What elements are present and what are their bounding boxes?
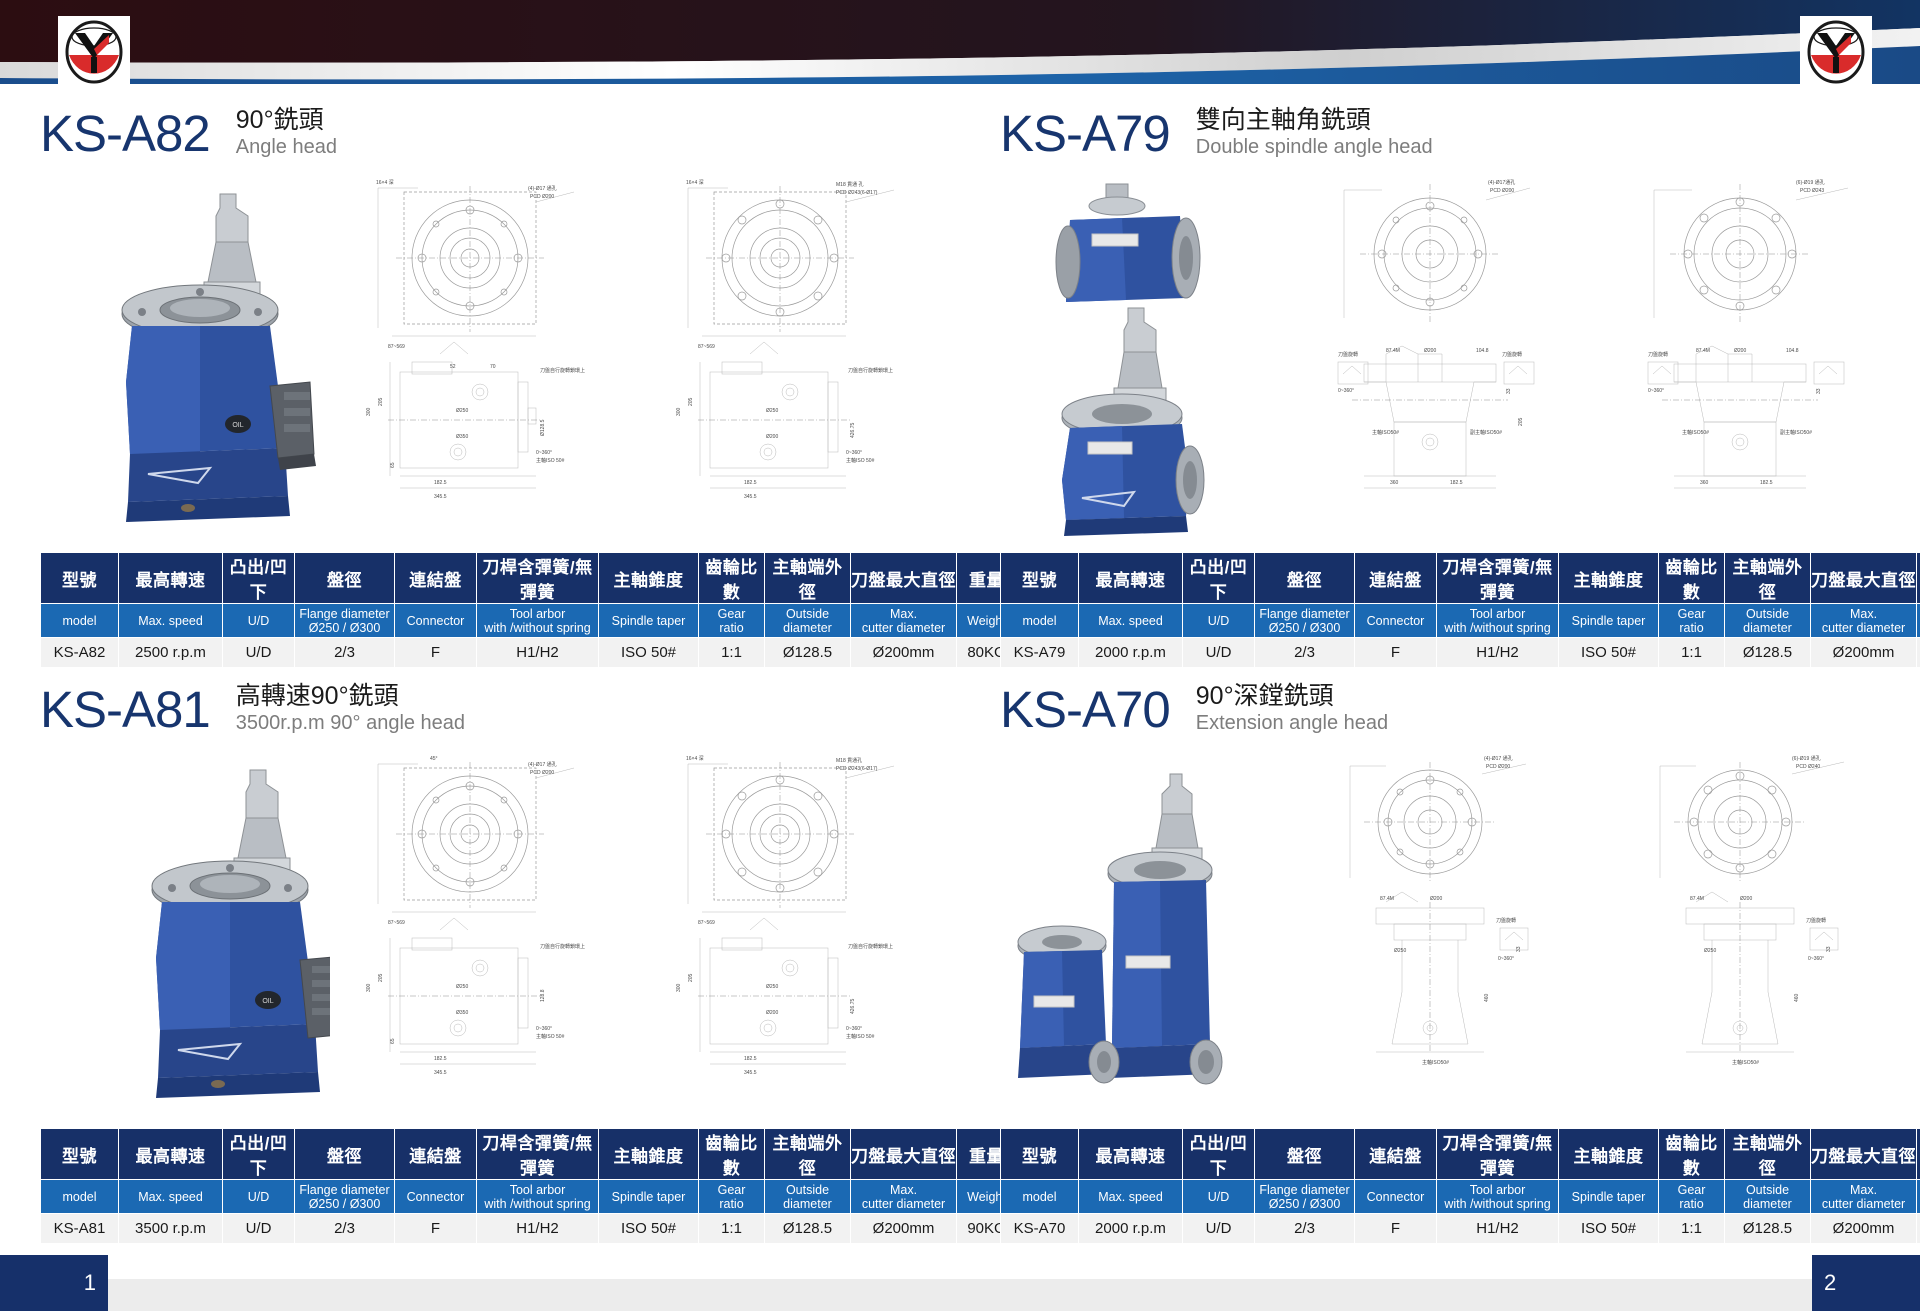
svg-text:87~569: 87~569 <box>388 920 405 926</box>
svg-text:Ø128.5: Ø128.5 <box>540 419 546 436</box>
svg-text:0~360°: 0~360° <box>1648 388 1664 394</box>
svg-text:刀盤旋轉: 刀盤旋轉 <box>1496 917 1516 924</box>
svg-text:205: 205 <box>688 973 694 982</box>
cell-outside-diameter: Ø128.5 <box>765 1214 851 1244</box>
svg-text:(6)-Ø19 通孔: (6)-Ø19 通孔 <box>1792 755 1821 762</box>
svg-text:87.4M: 87.4M <box>1380 896 1394 902</box>
product-title-row: KS-A81 高轉速90°銑頭 3500r.p.m 90° angle head <box>40 672 940 738</box>
th-cn-0: 型號 <box>1001 1129 1079 1180</box>
cell-max-speed: 2000 r.p.m <box>1079 1214 1183 1244</box>
svg-text:刀盤旋轉: 刀盤旋轉 <box>1502 351 1522 358</box>
svg-text:主軸ISO 50#: 主軸ISO 50# <box>846 457 875 464</box>
product-subtitle-cn: 雙向主軸角銑頭 <box>1196 105 1433 135</box>
th-en-7: Gearratio <box>699 604 765 638</box>
product-block-ks-a79: KS-A79 雙向主軸角銑頭 Double spindle angle head <box>1000 96 1900 668</box>
svg-text:PCD Ø243: PCD Ø243 <box>1800 188 1824 194</box>
svg-text:205: 205 <box>1518 417 1524 426</box>
th-en-3: Flange diameterØ250 / Ø300 <box>295 1180 395 1214</box>
svg-text:PCD Ø200: PCD Ø200 <box>1486 764 1510 770</box>
svg-text:0~360°: 0~360° <box>846 450 862 456</box>
svg-text:87.4M: 87.4M <box>1386 348 1400 354</box>
svg-text:Ø250: Ø250 <box>456 984 468 990</box>
cell-connector: F <box>395 638 477 668</box>
cell-outside-diameter: Ø128.5 <box>765 638 851 668</box>
th-cn-6: 主軸錐度 <box>1559 553 1659 604</box>
th-en-10: Weight <box>1917 1180 1920 1214</box>
svg-text:205: 205 <box>378 973 384 982</box>
svg-text:182.5: 182.5 <box>1450 480 1463 486</box>
th-cn-6: 主軸錐度 <box>599 1129 699 1180</box>
svg-text:426.75: 426.75 <box>850 422 856 438</box>
svg-text:87~569: 87~569 <box>698 344 715 350</box>
svg-text:PCD Ø200: PCD Ø200 <box>530 194 554 200</box>
svg-text:104.8: 104.8 <box>1476 348 1489 354</box>
svg-text:0~360°: 0~360° <box>1808 956 1824 962</box>
th-en-5: Tool arborwith /without spring <box>477 604 599 638</box>
th-en-10: Weight <box>1917 604 1920 638</box>
product-block-ks-a82: KS-A82 90°銑頭 Angle head <box>40 96 940 668</box>
th-en-3: Flange diameterØ250 / Ø300 <box>295 604 395 638</box>
spec-table-ks-a82: 型號 最高轉速 凸出/凹下 盤徑 連結盤 刀桿含彈簧/無彈簧 主軸錐度 齒輪比數… <box>40 552 1017 668</box>
spec-table-ks-a70: 型號 最高轉速 凸出/凹下 盤徑 連結盤 刀桿含彈簧/無彈簧 主軸錐度 齒輪比數… <box>1000 1128 1920 1244</box>
th-en-9: Max.cutter diameter <box>851 1180 957 1214</box>
svg-text:Ø250: Ø250 <box>456 408 468 414</box>
th-en-2: U/D <box>223 604 295 638</box>
th-cn-3: 盤徑 <box>1255 553 1355 604</box>
cell-max-cutter: Ø200mm <box>1811 1214 1917 1244</box>
cell-gear-ratio: 1:1 <box>699 638 765 668</box>
catalog-page: KS-A82 90°銑頭 Angle head <box>0 0 1920 1311</box>
th-cn-9: 刀盤最大直徑 <box>851 1129 957 1180</box>
th-en-9: Max.cutter diameter <box>1811 1180 1917 1214</box>
svg-text:M18 貫通孔: M18 貫通孔 <box>836 757 862 764</box>
cell-ud: U/D <box>223 1214 295 1244</box>
product-subtitle-en: Angle head <box>236 135 337 160</box>
svg-text:87~569: 87~569 <box>388 344 405 350</box>
svg-text:426.75: 426.75 <box>850 998 856 1014</box>
svg-text:Ø200: Ø200 <box>1740 896 1752 902</box>
th-cn-2: 凸出/凹下 <box>223 1129 295 1180</box>
svg-text:Ø200: Ø200 <box>1734 348 1746 354</box>
cell-flange: 2/3 <box>295 638 395 668</box>
th-cn-1: 最高轉速 <box>1079 553 1183 604</box>
th-cn-7: 齒輪比數 <box>699 553 765 604</box>
table-header-en-row: model Max. speed U/D Flange diameterØ250… <box>41 604 1017 638</box>
svg-text:PCD Ø243(6-Ø17): PCD Ø243(6-Ø17) <box>836 190 878 196</box>
svg-text:PCD Ø200: PCD Ø200 <box>1490 188 1514 194</box>
product-block-ks-a81: KS-A81 高轉速90°銑頭 3500r.p.m 90° angle head <box>40 672 940 1244</box>
svg-text:Ø200: Ø200 <box>1424 348 1436 354</box>
th-en-6: Spindle taper <box>599 1180 699 1214</box>
th-cn-3: 盤徑 <box>295 1129 395 1180</box>
svg-text:刀盤自行旋轉鎖環上: 刀盤自行旋轉鎖環上 <box>540 943 585 950</box>
ks-bowl-logo-icon <box>1805 19 1867 85</box>
cell-ud: U/D <box>223 638 295 668</box>
svg-text:Ø350: Ø350 <box>456 434 468 440</box>
th-en-4: Connector <box>1355 604 1437 638</box>
svg-text:刀盤自行旋轉鎖環上: 刀盤自行旋轉鎖環上 <box>540 367 585 374</box>
page-title: KS-A81 <box>40 682 210 738</box>
th-cn-9: 刀盤最大直徑 <box>1811 553 1917 604</box>
cell-flange: 2/3 <box>295 1214 395 1244</box>
th-en-5: Tool arborwith /without spring <box>1437 604 1559 638</box>
svg-text:345.5: 345.5 <box>744 494 757 500</box>
svg-text:300: 300 <box>676 407 682 416</box>
svg-text:(4)-Ø17 通孔: (4)-Ø17 通孔 <box>528 761 557 768</box>
th-en-3: Flange diameterØ250 / Ø300 <box>1255 1180 1355 1214</box>
cell-ud: U/D <box>1183 638 1255 668</box>
svg-text:(4)-Ø17 通孔: (4)-Ø17 通孔 <box>1484 755 1513 762</box>
th-en-0: model <box>41 1180 119 1214</box>
th-cn-1: 最高轉速 <box>1079 1129 1183 1180</box>
th-cn-3: 盤徑 <box>1255 1129 1355 1180</box>
th-en-2: U/D <box>1183 1180 1255 1214</box>
th-en-4: Connector <box>1355 1180 1437 1214</box>
drawing-top-view-left: 16×4 深 (4)-Ø17 通孔 PCD Ø200 87~569 52 70 … <box>330 176 630 526</box>
svg-text:360: 360 <box>1700 480 1709 486</box>
drawing-top-view-left: (4)-Ø17 通孔 PCD Ø200 87.4M Ø200 刀盤旋轉 0~36… <box>1290 752 1590 1102</box>
engineering-drawings: 45° (4)-Ø17 通孔 PCD Ø200 87~569 Ø250 Ø350… <box>330 752 940 1102</box>
th-en-4: Connector <box>395 604 477 638</box>
svg-text:M18 貫通 孔: M18 貫通 孔 <box>836 181 864 188</box>
svg-text:65: 65 <box>390 462 396 468</box>
th-cn-9: 刀盤最大直徑 <box>851 553 957 604</box>
svg-text:刀盤旋轉: 刀盤旋轉 <box>1806 917 1826 924</box>
svg-text:16×4 深: 16×4 深 <box>686 179 704 186</box>
cell-outside-diameter: Ø128.5 <box>1725 638 1811 668</box>
drawing-top-view-right: 16×4 深 M18 貫通孔 PCD Ø243(6-Ø17) 87~569 Ø2… <box>640 752 940 1102</box>
product-subtitle-en: Extension angle head <box>1196 711 1388 736</box>
svg-text:33: 33 <box>1516 946 1522 952</box>
cell-model: KS-A79 <box>1001 638 1079 668</box>
svg-text:33: 33 <box>1816 388 1822 394</box>
svg-text:OIL: OIL <box>232 422 243 429</box>
svg-text:PCD Ø243(6-Ø17): PCD Ø243(6-Ø17) <box>836 766 878 772</box>
page-number-left: 1 <box>0 1255 108 1311</box>
th-cn-10: 重量 <box>1917 553 1920 604</box>
th-cn-6: 主軸錐度 <box>599 553 699 604</box>
table-header-en-row: model Max. speed U/D Flange diameterØ250… <box>1001 604 1920 638</box>
svg-text:主軸ISO 50#: 主軸ISO 50# <box>846 1033 875 1040</box>
cell-spindle-taper: ISO 50# <box>599 638 699 668</box>
th-en-1: Max. speed <box>119 604 223 638</box>
svg-text:87.4M: 87.4M <box>1696 348 1710 354</box>
table-header-en-row: model Max. speed U/D Flange diameterØ250… <box>1001 1180 1920 1214</box>
th-en-6: Spindle taper <box>1559 604 1659 638</box>
th-cn-5: 刀桿含彈簧/無彈簧 <box>1437 1129 1559 1180</box>
svg-text:65: 65 <box>390 1038 396 1044</box>
th-cn-10: 重量 <box>1917 1129 1920 1180</box>
th-en-2: U/D <box>223 1180 295 1214</box>
svg-text:345.5: 345.5 <box>434 1070 447 1076</box>
cell-weight: 105KG <box>1917 1214 1920 1244</box>
svg-text:182.5: 182.5 <box>744 1056 757 1062</box>
cell-connector: F <box>1355 1214 1437 1244</box>
svg-text:128.8: 128.8 <box>540 989 546 1002</box>
th-cn-2: 凸出/凹下 <box>1183 1129 1255 1180</box>
cell-model: KS-A70 <box>1001 1214 1079 1244</box>
th-cn-0: 型號 <box>1001 553 1079 604</box>
svg-text:0~360°: 0~360° <box>1338 388 1354 394</box>
th-cn-3: 盤徑 <box>295 553 395 604</box>
cell-tool-arbor: H1/H2 <box>477 638 599 668</box>
product-subtitle-cn: 90°銑頭 <box>236 105 337 135</box>
cell-ud: U/D <box>1183 1214 1255 1244</box>
table-row: KS-A70 2000 r.p.m U/D 2/3 F H1/H2 ISO 50… <box>1001 1214 1920 1244</box>
th-cn-0: 型號 <box>41 553 119 604</box>
svg-text:33: 33 <box>1506 388 1512 394</box>
svg-text:0~360°: 0~360° <box>536 1026 552 1032</box>
cell-model: KS-A81 <box>41 1214 119 1244</box>
table-header-cn-row: 型號 最高轉速 凸出/凹下 盤徑 連結盤 刀桿含彈簧/無彈簧 主軸錐度 齒輪比數… <box>41 1129 1017 1180</box>
cell-connector: F <box>395 1214 477 1244</box>
cell-max-speed: 2000 r.p.m <box>1079 638 1183 668</box>
th-cn-1: 最高轉速 <box>119 1129 223 1180</box>
product-photo: OIL <box>70 186 320 541</box>
th-cn-5: 刀桿含彈簧/無彈簧 <box>477 1129 599 1180</box>
svg-text:0~360°: 0~360° <box>536 450 552 456</box>
svg-text:PCD Ø200: PCD Ø200 <box>530 770 554 776</box>
cell-max-cutter: Ø200mm <box>851 1214 957 1244</box>
page-title: KS-A70 <box>1000 682 1170 738</box>
svg-text:Ø250: Ø250 <box>766 984 778 990</box>
product-subtitle-cn: 90°深鏜銑頭 <box>1196 681 1388 711</box>
th-cn-6: 主軸錐度 <box>1559 1129 1659 1180</box>
cell-max-cutter: Ø200mm <box>1811 638 1917 668</box>
th-cn-7: 齒輪比數 <box>1659 553 1725 604</box>
company-logo-right <box>1800 16 1872 88</box>
svg-text:Ø200: Ø200 <box>766 434 778 440</box>
svg-text:300: 300 <box>366 983 372 992</box>
th-en-6: Spindle taper <box>1559 1180 1659 1214</box>
cell-spindle-taper: ISO 50# <box>599 1214 699 1244</box>
svg-text:刀盤自行旋轉鎖環上: 刀盤自行旋轉鎖環上 <box>848 367 893 374</box>
cell-model: KS-A82 <box>41 638 119 668</box>
th-en-9: Max.cutter diameter <box>851 604 957 638</box>
th-en-1: Max. speed <box>1079 604 1183 638</box>
svg-text:182.5: 182.5 <box>1760 480 1773 486</box>
company-logo-left <box>58 16 130 88</box>
cell-gear-ratio: 1:1 <box>1659 638 1725 668</box>
th-cn-7: 齒輪比數 <box>699 1129 765 1180</box>
cell-max-cutter: Ø200mm <box>851 638 957 668</box>
svg-text:主軸ISO50#: 主軸ISO50# <box>1732 1059 1759 1066</box>
th-cn-4: 連結盤 <box>1355 553 1437 604</box>
svg-text:主軸ISO50#: 主軸ISO50# <box>1422 1059 1449 1066</box>
th-en-7: Gearratio <box>699 1180 765 1214</box>
svg-text:205: 205 <box>688 397 694 406</box>
product-media-area: (4)-Ø17通孔 PCD Ø200 刀盤旋轉 0~360° 刀盤旋轉 87.4… <box>1000 176 1900 546</box>
cell-max-speed: 3500 r.p.m <box>119 1214 223 1244</box>
cell-weight: 100KG <box>1917 638 1920 668</box>
svg-text:PCD Ø240: PCD Ø240 <box>1796 764 1820 770</box>
svg-text:副主軸ISO50#: 副主軸ISO50# <box>1780 429 1812 436</box>
product-subtitle-en: 3500r.p.m 90° angle head <box>236 711 465 736</box>
cell-tool-arbor: H1/H2 <box>477 1214 599 1244</box>
cell-spindle-taper: ISO 50# <box>1559 1214 1659 1244</box>
drawing-top-view-left: (4)-Ø17通孔 PCD Ø200 刀盤旋轉 0~360° 刀盤旋轉 87.4… <box>1290 176 1590 526</box>
page-header-banner <box>0 0 1920 88</box>
th-cn-4: 連結盤 <box>395 553 477 604</box>
svg-text:45°: 45° <box>430 756 438 762</box>
th-en-7: Gearratio <box>1659 1180 1725 1214</box>
cell-max-speed: 2500 r.p.m <box>119 638 223 668</box>
svg-text:87.4M: 87.4M <box>1690 896 1704 902</box>
spec-table-ks-a79: 型號 最高轉速 凸出/凹下 盤徑 連結盤 刀桿含彈簧/無彈簧 主軸錐度 齒輪比數… <box>1000 552 1920 668</box>
drawing-top-view-right: (6)-Ø19 通孔 PCD Ø243 刀盤旋轉 0~360° 87.4M Ø2… <box>1600 176 1900 526</box>
product-title-row: KS-A70 90°深鏜銑頭 Extension angle head <box>1000 672 1900 738</box>
th-en-8: Outsidediameter <box>1725 1180 1811 1214</box>
svg-text:360: 360 <box>1390 480 1399 486</box>
th-cn-5: 刀桿含彈簧/無彈簧 <box>1437 553 1559 604</box>
th-en-0: model <box>41 604 119 638</box>
product-photo: OIL <box>100 762 350 1117</box>
product-photo <box>1010 756 1260 1121</box>
svg-text:104.8: 104.8 <box>1786 348 1799 354</box>
svg-text:182.5: 182.5 <box>434 480 447 486</box>
cell-spindle-taper: ISO 50# <box>1559 638 1659 668</box>
product-media-area: (4)-Ø17 通孔 PCD Ø200 87.4M Ø200 刀盤旋轉 0~36… <box>1000 752 1900 1122</box>
ks-bowl-logo-icon <box>63 19 125 85</box>
svg-text:205: 205 <box>378 397 384 406</box>
th-en-4: Connector <box>395 1180 477 1214</box>
svg-text:(4)-Ø17通孔: (4)-Ø17通孔 <box>1488 179 1515 186</box>
table-row: KS-A79 2000 r.p.m U/D 2/3 F H1/H2 ISO 50… <box>1001 638 1920 668</box>
svg-text:460: 460 <box>1484 993 1490 1002</box>
th-cn-8: 主軸端外徑 <box>765 1129 851 1180</box>
product-title-row: KS-A79 雙向主軸角銑頭 Double spindle angle head <box>1000 96 1900 162</box>
svg-text:70: 70 <box>490 364 496 370</box>
product-subtitle-cn: 高轉速90°銑頭 <box>236 681 465 711</box>
th-cn-4: 連結盤 <box>395 1129 477 1180</box>
svg-text:182.5: 182.5 <box>434 1056 447 1062</box>
svg-text:刀盤自行旋轉鎖環上: 刀盤自行旋轉鎖環上 <box>848 943 893 950</box>
th-cn-8: 主軸端外徑 <box>765 553 851 604</box>
drawing-top-view-left: 45° (4)-Ø17 通孔 PCD Ø200 87~569 Ø250 Ø350… <box>330 752 630 1102</box>
th-cn-1: 最高轉速 <box>119 553 223 604</box>
th-cn-8: 主軸端外徑 <box>1725 1129 1811 1180</box>
th-cn-5: 刀桿含彈簧/無彈簧 <box>477 553 599 604</box>
product-photo <box>1010 180 1260 545</box>
product-media-area: OIL <box>40 752 940 1122</box>
cell-flange: 2/3 <box>1255 1214 1355 1244</box>
engineering-drawings: (4)-Ø17通孔 PCD Ø200 刀盤旋轉 0~360° 刀盤旋轉 87.4… <box>1290 176 1900 526</box>
th-en-5: Tool arborwith /without spring <box>1437 1180 1559 1214</box>
cell-connector: F <box>1355 638 1437 668</box>
svg-text:460: 460 <box>1794 993 1800 1002</box>
th-en-2: U/D <box>1183 604 1255 638</box>
svg-text:(6)-Ø19 通孔: (6)-Ø19 通孔 <box>1796 179 1825 186</box>
th-en-7: Gearratio <box>1659 604 1725 638</box>
th-cn-0: 型號 <box>41 1129 119 1180</box>
svg-text:16×4 深: 16×4 深 <box>376 179 394 186</box>
table-row: KS-A82 2500 r.p.m U/D 2/3 F H1/H2 ISO 50… <box>41 638 1017 668</box>
table-header-cn-row: 型號 最高轉速 凸出/凹下 盤徑 連結盤 刀桿含彈簧/無彈簧 主軸錐度 齒輪比數… <box>41 553 1017 604</box>
svg-text:OIL: OIL <box>262 998 273 1005</box>
engineering-drawings: 16×4 深 (4)-Ø17 通孔 PCD Ø200 87~569 52 70 … <box>330 176 940 526</box>
table-header-cn-row: 型號 最高轉速 凸出/凹下 盤徑 連結盤 刀桿含彈簧/無彈簧 主軸錐度 齒輪比數… <box>1001 553 1920 604</box>
th-en-3: Flange diameterØ250 / Ø300 <box>1255 604 1355 638</box>
product-block-ks-a70: KS-A70 90°深鏜銑頭 Extension angle head <box>1000 672 1900 1244</box>
th-en-9: Max.cutter diameter <box>1811 604 1917 638</box>
cell-tool-arbor: H1/H2 <box>1437 1214 1559 1244</box>
th-cn-9: 刀盤最大直徑 <box>1811 1129 1917 1180</box>
svg-text:刀盤旋轉: 刀盤旋轉 <box>1338 351 1358 358</box>
th-en-8: Outsidediameter <box>765 1180 851 1214</box>
th-en-8: Outsidediameter <box>1725 604 1811 638</box>
th-cn-2: 凸出/凹下 <box>1183 553 1255 604</box>
table-row: KS-A81 3500 r.p.m U/D 2/3 F H1/H2 ISO 50… <box>41 1214 1017 1244</box>
svg-text:345.5: 345.5 <box>434 494 447 500</box>
drawing-top-view-right: 16×4 深 M18 貫通 孔 PCD Ø243(6-Ø17) 87~569 Ø… <box>640 176 940 526</box>
th-cn-8: 主軸端外徑 <box>1725 553 1811 604</box>
th-cn-7: 齒輪比數 <box>1659 1129 1725 1180</box>
svg-text:300: 300 <box>366 407 372 416</box>
svg-text:52: 52 <box>450 364 456 370</box>
product-subtitle-en: Double spindle angle head <box>1196 135 1433 160</box>
page-number-right: 2 <box>1812 1255 1920 1311</box>
svg-text:副主軸ISO50#: 副主軸ISO50# <box>1470 429 1502 436</box>
th-en-6: Spindle taper <box>599 604 699 638</box>
page-title: KS-A79 <box>1000 106 1170 162</box>
svg-text:345.5: 345.5 <box>744 1070 757 1076</box>
drawing-top-view-right: (6)-Ø19 通孔 PCD Ø240 87.4M Ø200 刀盤旋轉 0~36… <box>1600 752 1900 1102</box>
cell-gear-ratio: 1:1 <box>1659 1214 1725 1244</box>
svg-text:(4)-Ø17 通孔: (4)-Ø17 通孔 <box>528 185 557 192</box>
cell-tool-arbor: H1/H2 <box>1437 638 1559 668</box>
svg-text:0~360°: 0~360° <box>1498 956 1514 962</box>
th-en-0: model <box>1001 1180 1079 1214</box>
svg-text:Ø250: Ø250 <box>1394 948 1406 954</box>
th-en-1: Max. speed <box>1079 1180 1183 1214</box>
svg-text:Ø200: Ø200 <box>766 1010 778 1016</box>
svg-text:87~569: 87~569 <box>698 920 715 926</box>
th-en-1: Max. speed <box>119 1180 223 1214</box>
svg-text:Ø350: Ø350 <box>456 1010 468 1016</box>
page-title: KS-A82 <box>40 106 210 162</box>
th-en-8: Outsidediameter <box>765 604 851 638</box>
product-title-row: KS-A82 90°銑頭 Angle head <box>40 96 940 162</box>
cell-gear-ratio: 1:1 <box>699 1214 765 1244</box>
svg-text:Ø200: Ø200 <box>1430 896 1442 902</box>
svg-text:Ø250: Ø250 <box>1704 948 1716 954</box>
th-cn-4: 連結盤 <box>1355 1129 1437 1180</box>
engineering-drawings: (4)-Ø17 通孔 PCD Ø200 87.4M Ø200 刀盤旋轉 0~36… <box>1290 752 1900 1102</box>
svg-text:0~360°: 0~360° <box>846 1026 862 1032</box>
spec-table-ks-a81: 型號 最高轉速 凸出/凹下 盤徑 連結盤 刀桿含彈簧/無彈簧 主軸錐度 齒輪比數… <box>40 1128 1017 1244</box>
page-footer: 1 2 <box>0 1255 1920 1311</box>
svg-text:Ø250: Ø250 <box>766 408 778 414</box>
svg-text:主軸ISO50#: 主軸ISO50# <box>1372 429 1399 436</box>
table-header-cn-row: 型號 最高轉速 凸出/凹下 盤徑 連結盤 刀桿含彈簧/無彈簧 主軸錐度 齒輪比數… <box>1001 1129 1920 1180</box>
table-header-en-row: model Max. speed U/D Flange diameterØ250… <box>41 1180 1017 1214</box>
svg-text:182.5: 182.5 <box>744 480 757 486</box>
footer-strip <box>0 1279 1920 1311</box>
svg-text:主軸ISO50#: 主軸ISO50# <box>1682 429 1709 436</box>
cell-flange: 2/3 <box>1255 638 1355 668</box>
cell-outside-diameter: Ø128.5 <box>1725 1214 1811 1244</box>
svg-text:33: 33 <box>1826 946 1832 952</box>
svg-text:主軸ISO 50#: 主軸ISO 50# <box>536 457 565 464</box>
svg-text:主軸ISO 50#: 主軸ISO 50# <box>536 1033 565 1040</box>
th-en-0: model <box>1001 604 1079 638</box>
th-en-5: Tool arborwith /without spring <box>477 1180 599 1214</box>
svg-text:刀盤旋轉: 刀盤旋轉 <box>1648 351 1668 358</box>
svg-text:16×4 深: 16×4 深 <box>686 755 704 762</box>
product-media-area: OIL <box>40 176 940 546</box>
svg-text:300: 300 <box>676 983 682 992</box>
th-cn-2: 凸出/凹下 <box>223 553 295 604</box>
